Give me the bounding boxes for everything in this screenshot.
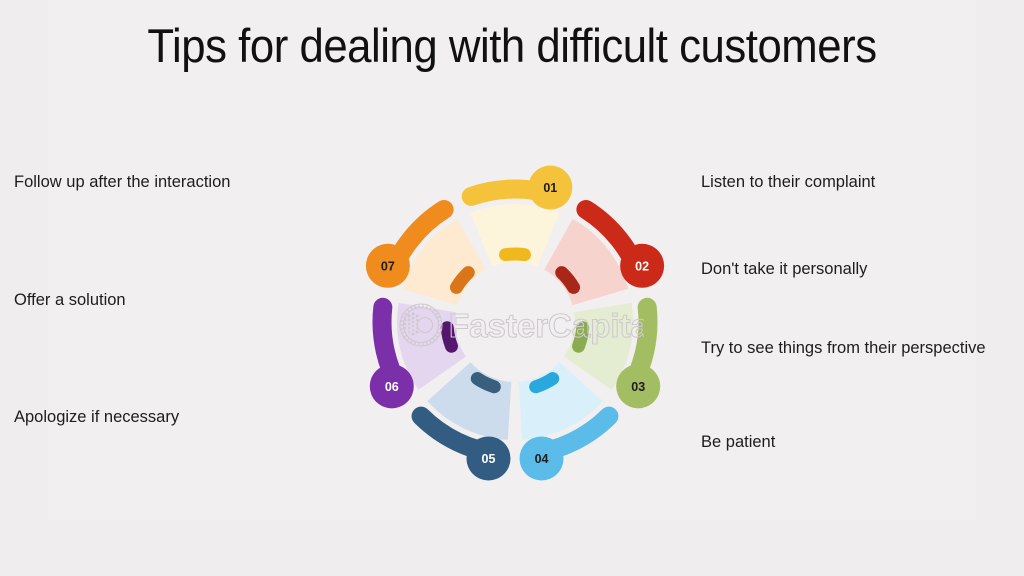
wheel-badge-06[interactable]: 06 <box>370 364 414 408</box>
callout-label-03: Try to see things from their perspective <box>701 338 1001 359</box>
wheel-tick-03 <box>579 328 583 346</box>
callout-label-01: Listen to their complaint <box>701 172 1001 193</box>
callout-label-04: Be patient <box>701 432 1001 453</box>
wheel-badge-01[interactable]: 01 <box>528 166 572 210</box>
wheel-badge-05[interactable]: 05 <box>466 436 510 480</box>
wheel-badge-number-06: 06 <box>385 380 399 394</box>
page-title: Tips for dealing with difficult customer… <box>36 18 988 73</box>
wheel-badge-number-07: 07 <box>381 259 395 273</box>
wheel-badge-number-03: 03 <box>631 380 645 394</box>
wheel-badge-03[interactable]: 03 <box>616 364 660 408</box>
wheel-badge-number-05: 05 <box>482 452 496 466</box>
wheel-tick-06 <box>447 328 451 346</box>
wheel-badge-07[interactable]: 07 <box>366 244 410 288</box>
slide-canvas: Tips for dealing with difficult customer… <box>0 0 1024 576</box>
wheel-badge-number-01: 01 <box>543 181 557 195</box>
callout-label-02: Don't take it personally <box>701 259 1001 280</box>
wheel-badge-number-02: 02 <box>635 259 649 273</box>
wheel-badge-number-04: 04 <box>535 452 549 466</box>
wheel-tick-05 <box>477 379 494 387</box>
callout-label-05: Apologize if necessary <box>14 407 324 428</box>
wheel-wedge-group <box>397 204 633 440</box>
segmented-wheel-diagram: 01020304050607 <box>340 145 690 495</box>
callout-label-07: Follow up after the interaction <box>14 172 324 193</box>
wheel-badge-04[interactable]: 04 <box>520 436 564 480</box>
wheel-tick-01 <box>506 254 525 255</box>
wheel-badge-02[interactable]: 02 <box>620 244 664 288</box>
wheel-tick-04 <box>536 379 553 387</box>
callout-label-06: Offer a solution <box>14 290 324 311</box>
